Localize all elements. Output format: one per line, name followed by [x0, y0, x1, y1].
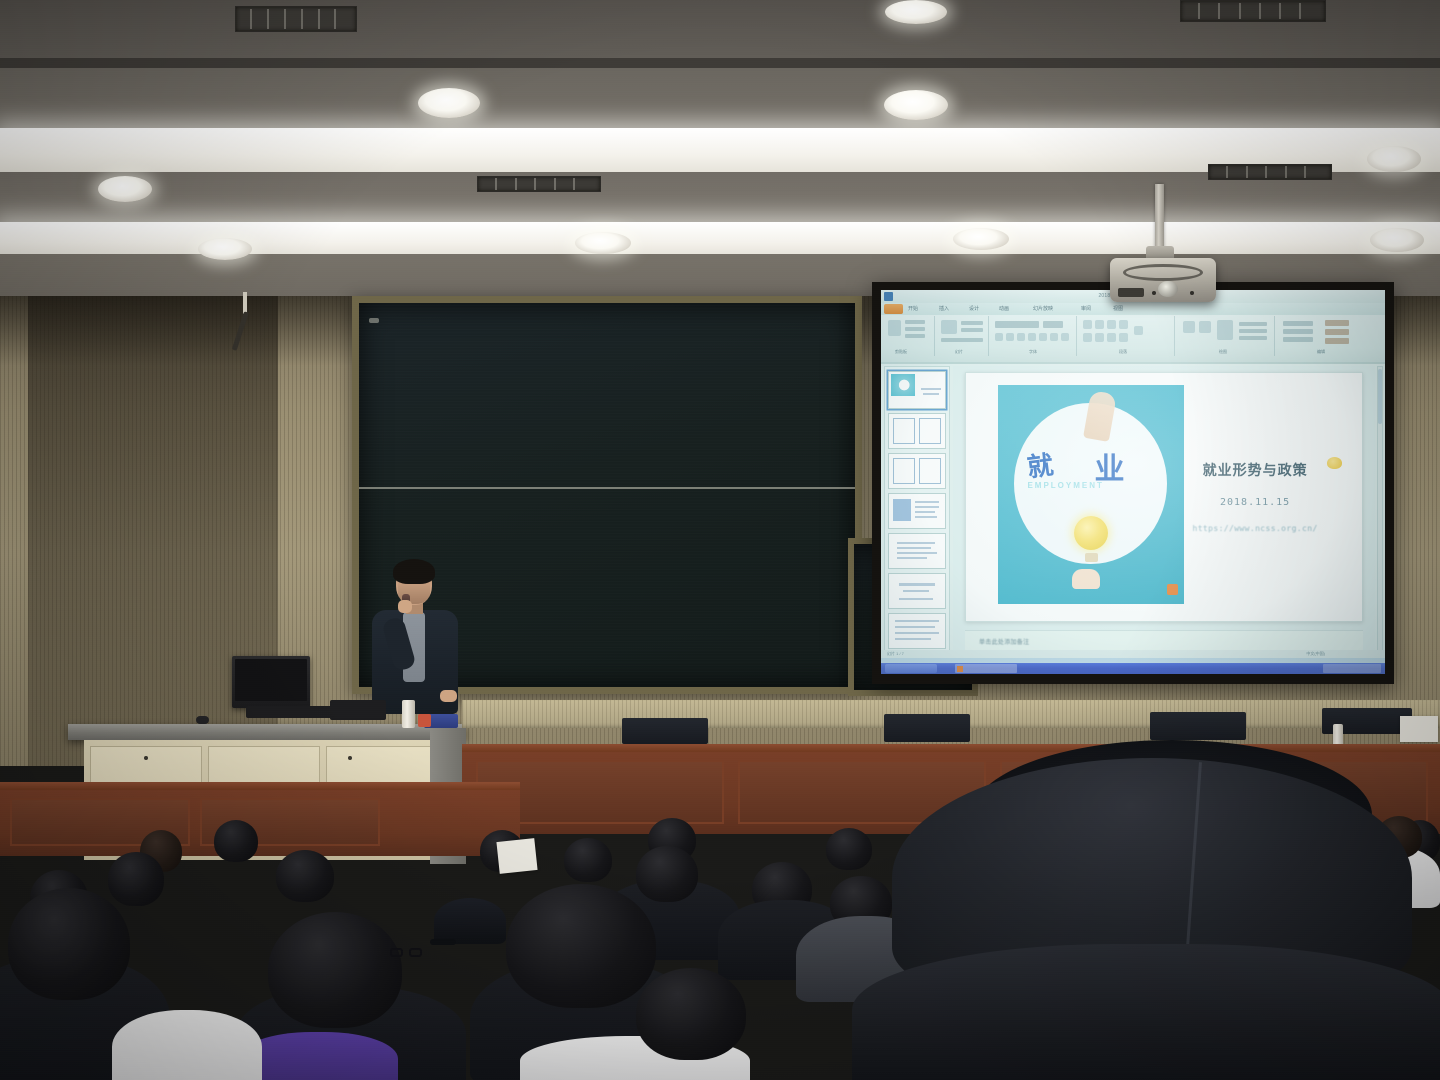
- menu-item-slideshow[interactable]: 幻片放映: [1033, 305, 1053, 312]
- ribbon-group-editing: 编辑: [1277, 316, 1381, 356]
- ceiling-downlight: [953, 228, 1009, 250]
- lecturer-hand-on-podium: [440, 690, 457, 702]
- slide-editing-area[interactable]: 就 业 EMPLOYMENT 就业形势与政策 2018.11.15 https:…: [953, 366, 1375, 656]
- air-vent-icon: [1208, 164, 1332, 180]
- slide-cover-graphic: 就 业 EMPLOYMENT: [998, 385, 1184, 603]
- status-language: 中文(中国): [1306, 651, 1325, 657]
- desk-trim: [0, 782, 520, 790]
- chalk-mark: [369, 318, 379, 323]
- audience-head: [636, 968, 746, 1060]
- eyeglasses-icon: [390, 948, 424, 957]
- lecture-hall-photo: 2018届毕业生就业形势与政策 开始 插入 设计 动画 幻片放映 审阅 视图: [0, 0, 1440, 1080]
- slide-thumbnail[interactable]: [888, 573, 946, 609]
- podium-monitor: [232, 656, 310, 708]
- ceiling-downlight: [198, 238, 252, 260]
- ribbon-group-label: 字体: [1029, 349, 1037, 355]
- powerpoint-window[interactable]: 2018届毕业生就业形势与政策 开始 插入 设计 动画 幻片放映 审阅 视图: [881, 290, 1385, 674]
- ribbon-separator: [881, 362, 1385, 364]
- menu-item-home[interactable]: 开始: [908, 305, 918, 312]
- slide-notes-pane[interactable]: 单击此处添加备注: [965, 630, 1363, 652]
- audience-shoulders-purple: [238, 1032, 398, 1080]
- ceiling-band-2: [0, 68, 1440, 130]
- bottle-on-desk: [1333, 724, 1343, 746]
- ribbon-group-paragraph: 段落: [1079, 316, 1175, 356]
- hand-holding-bulb-icon: [1072, 569, 1100, 589]
- paper-on-desk: [1400, 716, 1438, 742]
- lecturer: [366, 562, 462, 712]
- red-item-on-desk: [418, 714, 431, 727]
- ceiling-shadow-gap: [0, 58, 1440, 68]
- projection-screen-surface: 2018届毕业生就业形势与政策 开始 插入 设计 动画 幻片放映 审阅 视图: [881, 290, 1385, 674]
- menu-item-review[interactable]: 审阅: [1081, 305, 1091, 312]
- vertical-scrollbar[interactable]: [1377, 366, 1383, 656]
- foreground-figure-shoulders: [852, 944, 1440, 1080]
- projector-ring: [1123, 264, 1203, 281]
- audience-head: [214, 820, 258, 862]
- podium-door-knob[interactable]: [144, 756, 148, 760]
- slide-thumbnail[interactable]: [888, 371, 946, 409]
- ribbon-group-label: 段落: [1119, 349, 1127, 355]
- start-button[interactable]: [885, 664, 937, 673]
- audience-head: [564, 838, 612, 882]
- ceiling: [0, 0, 1440, 300]
- projection-screen: 2018届毕业生就业形势与政策 开始 插入 设计 动画 幻片放映 审阅 视图: [872, 282, 1394, 684]
- monitor-screen: [235, 659, 307, 701]
- windows-taskbar[interactable]: [881, 658, 1385, 674]
- chalkboard-divider: [359, 487, 855, 489]
- lecturer-hair: [393, 559, 435, 584]
- projector-indicator: [1190, 291, 1194, 295]
- air-vent-icon: [477, 176, 601, 192]
- audience-shoulders-white: [112, 1010, 262, 1080]
- audience-head: [636, 846, 698, 902]
- ceiling-downlight: [1367, 146, 1421, 172]
- desk-equipment: [330, 700, 386, 720]
- slide-date: 2018.11.15: [1164, 497, 1346, 508]
- slide-thumbnail[interactable]: [888, 453, 946, 489]
- taskbar-item-powerpoint[interactable]: [955, 664, 1017, 673]
- slide-title: 就业形势与政策: [1164, 460, 1346, 480]
- podium-door-knob[interactable]: [348, 756, 352, 760]
- slide-corner-badge: [1167, 584, 1178, 595]
- audience-head: [8, 888, 130, 1000]
- air-vent-icon: [1180, 0, 1326, 22]
- powerpoint-menubar: 开始 插入 设计 动画 幻片放映 审阅 视图: [881, 303, 1385, 315]
- ceiling-downlight: [885, 0, 947, 24]
- system-tray[interactable]: [1323, 664, 1381, 673]
- seat-back: [622, 718, 708, 744]
- current-slide[interactable]: 就 业 EMPLOYMENT 就业形势与政策 2018.11.15 https:…: [965, 372, 1363, 622]
- powerpoint-ribbon: 剪贴板 幻片: [881, 315, 1385, 362]
- ceiling-downlight: [575, 232, 631, 254]
- lightbulb-base: [1085, 553, 1098, 562]
- menu-item-insert[interactable]: 插入: [939, 305, 949, 312]
- audience-head: [268, 912, 402, 1028]
- menu-item-animation[interactable]: 动画: [999, 305, 1009, 312]
- notes-placeholder: 单击此处添加备注: [979, 637, 1029, 646]
- audience-head: [276, 850, 334, 902]
- ceiling-downlight: [98, 176, 152, 202]
- ribbon-group-label: 绘图: [1219, 349, 1227, 355]
- ribbon-group-font: 字体: [991, 316, 1077, 356]
- office-button[interactable]: [884, 304, 903, 314]
- ceiling-downlight: [418, 88, 480, 118]
- slide-thumbnail[interactable]: [888, 493, 946, 529]
- graphic-text-english: EMPLOYMENT: [1027, 481, 1103, 490]
- audience-head: [108, 852, 164, 906]
- foreground-hooded-figure: [852, 758, 1440, 1080]
- lecturer-hand: [398, 600, 412, 613]
- seat-back: [1150, 712, 1246, 740]
- ribbon-group-slides: 幻片: [937, 316, 989, 356]
- ceiling-downlight: [1370, 228, 1424, 252]
- desk-trim: [462, 744, 1440, 752]
- keyboard: [246, 706, 342, 718]
- audience-head: [506, 884, 656, 1008]
- ribbon-group-clipboard: 剪贴板: [883, 316, 935, 356]
- slide-thumbnail-pane[interactable]: [884, 366, 950, 656]
- slide-thumbnail[interactable]: [888, 533, 946, 569]
- black-cap-icon: [434, 898, 506, 944]
- seat-back: [884, 714, 970, 742]
- projector-mount-pole: [1155, 184, 1164, 252]
- ribbon-group-label: 编辑: [1317, 349, 1325, 355]
- slide-thumbnail[interactable]: [888, 613, 946, 649]
- ribbon-group-drawing: 绘图: [1177, 316, 1275, 356]
- slide-thumbnail[interactable]: [888, 413, 946, 449]
- ceiling-downlight: [884, 90, 948, 120]
- ribbon-group-label: 剪贴板: [895, 349, 907, 355]
- thermos-cup: [402, 700, 415, 728]
- menu-item-design[interactable]: 设计: [969, 305, 979, 312]
- menu-item-view[interactable]: 视图: [1113, 305, 1123, 312]
- powerpoint-statusbar: 幻片 1 / 7 中文(中国): [881, 650, 1385, 658]
- scrollbar-thumb[interactable]: [1378, 369, 1382, 424]
- paper-sheet: [496, 838, 537, 874]
- projector-vent: [1118, 288, 1144, 297]
- graphic-char-jiu: 就: [1025, 445, 1055, 485]
- slide-url: https://www.ncss.org.cn/: [1164, 524, 1346, 533]
- projector-indicator: [1152, 291, 1156, 295]
- hood-seam: [1185, 762, 1202, 962]
- mouse-icon: [196, 716, 209, 724]
- air-vent-icon: [235, 6, 357, 32]
- desk-row: [0, 782, 520, 856]
- projector-lens-icon: [1158, 281, 1178, 297]
- ribbon-group-label: 幻片: [955, 349, 963, 355]
- status-slide-counter: 幻片 1 / 7: [887, 651, 904, 657]
- cap-brim: [430, 939, 456, 945]
